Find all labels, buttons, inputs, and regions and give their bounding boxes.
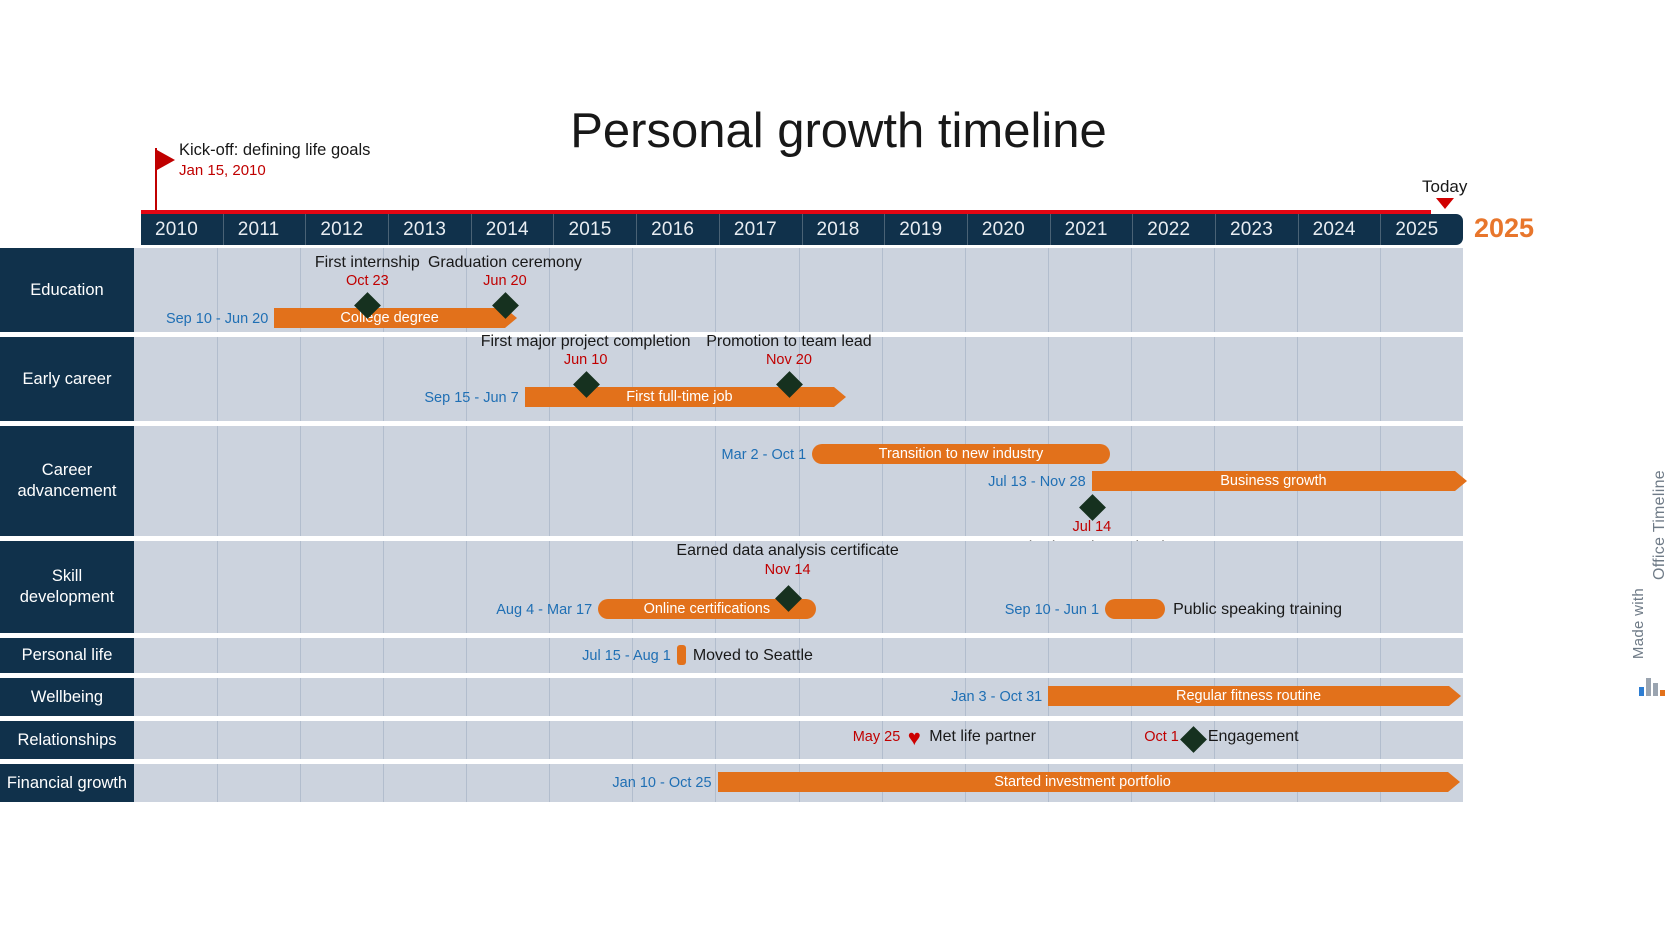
diamond-icon[interactable] <box>1079 494 1106 521</box>
bar-outside-label: Public speaking training <box>1173 600 1342 620</box>
today-label: Today <box>1422 178 1467 195</box>
kickoff-text-block: Kick-off: defining life goals Jan 15, 20… <box>179 140 370 181</box>
swimlane-label[interactable]: Relationships <box>0 721 134 759</box>
watermark-made-with: Made with <box>1630 588 1647 659</box>
timeline-bar[interactable]: College degree <box>274 308 505 328</box>
gridline <box>383 337 384 421</box>
gridline <box>799 426 800 536</box>
axis-year-2025[interactable]: 2025 <box>1380 214 1463 245</box>
gridline <box>217 638 218 673</box>
gridline <box>300 541 301 633</box>
swimlane-wellbeing: WellbeingRegular fitness routineJan 3 - … <box>0 678 1463 716</box>
gridline <box>300 426 301 536</box>
timeline-bar-label: Online certifications <box>644 601 771 617</box>
axis-year-2016[interactable]: 2016 <box>636 214 719 245</box>
bar-date-label: Jan 3 - Oct 31 <box>951 688 1042 706</box>
gridline <box>965 248 966 332</box>
gridline <box>300 678 301 716</box>
swimlane-track: Transition to new industryMar 2 - Oct 1B… <box>134 426 1463 536</box>
timeline-bar[interactable] <box>677 645 686 665</box>
gridline <box>799 678 800 716</box>
bar-date-label: Jul 15 - Aug 1 <box>582 647 671 665</box>
gridline <box>549 541 550 633</box>
gridline <box>1048 721 1049 759</box>
gridline <box>1131 638 1132 673</box>
axis-year-2014[interactable]: 2014 <box>471 214 554 245</box>
swimlane-early-career: Early careerFirst full-time jobSep 15 - … <box>0 337 1463 421</box>
gridline <box>799 248 800 332</box>
end-year-label: 2025 <box>1474 213 1534 244</box>
bar-date-label: Jul 13 - Nov 28 <box>988 473 1086 491</box>
timeline-bar[interactable]: Regular fitness routine <box>1048 686 1449 706</box>
gridline <box>715 721 716 759</box>
gridline <box>383 764 384 802</box>
today-marker[interactable]: Today <box>1422 178 1467 209</box>
office-timeline-logo-icon <box>1639 676 1665 696</box>
kickoff-label: Kick-off: defining life goals <box>179 140 370 161</box>
gridline <box>965 426 966 536</box>
gridline <box>217 337 218 421</box>
diamond-icon[interactable] <box>1180 726 1207 753</box>
timeline-bar-label: Business growth <box>1220 473 1326 489</box>
bar-date-label: Jan 10 - Oct 25 <box>612 774 711 792</box>
timeline-bar[interactable]: Transition to new industry <box>812 444 1110 464</box>
milestone-label: Promotion to team lead <box>706 332 871 352</box>
gridline <box>1048 337 1049 421</box>
gridline <box>882 638 883 673</box>
swimlane-label[interactable]: Education <box>0 248 134 332</box>
axis-year-2020[interactable]: 2020 <box>967 214 1050 245</box>
swimlane-label[interactable]: Early career <box>0 337 134 421</box>
today-marker-icon <box>1436 198 1454 209</box>
bar-date-label: Aug 4 - Mar 17 <box>496 601 592 619</box>
gridline <box>466 678 467 716</box>
swimlane-track: Online certificationsAug 4 - Mar 17Sep 1… <box>134 541 1463 633</box>
swimlane-relationships: Relationships♥May 25Met life partnerOct … <box>0 721 1463 759</box>
flag-icon <box>157 150 175 170</box>
heart-icon[interactable]: ♥ <box>904 728 924 748</box>
gridline <box>799 721 800 759</box>
gridline <box>300 337 301 421</box>
milestone-date: Jun 20 <box>483 272 527 290</box>
swimlane-label[interactable]: Wellbeing <box>0 678 134 716</box>
gridline <box>466 541 467 633</box>
axis-year-2018[interactable]: 2018 <box>802 214 885 245</box>
gridline <box>1131 541 1132 633</box>
milestone-date: May 25 <box>853 728 901 746</box>
axis-year-2021[interactable]: 2021 <box>1050 214 1133 245</box>
gridline <box>383 638 384 673</box>
timeline-bar-label: First full-time job <box>626 389 732 405</box>
gridline <box>383 721 384 759</box>
gridline <box>1048 541 1049 633</box>
gridline <box>715 678 716 716</box>
swimlane-financial-growth: Financial growthStarted investment portf… <box>0 764 1463 802</box>
gridline <box>1048 638 1049 673</box>
axis-year-2017[interactable]: 2017 <box>719 214 802 245</box>
watermark-product: Office Timeline <box>1651 470 1669 580</box>
timeline-bar-label: Regular fitness routine <box>1176 688 1321 704</box>
gridline <box>300 764 301 802</box>
gridline <box>965 638 966 673</box>
timeline-canvas: Personal growth timeline Kick-off: defin… <box>0 0 1677 941</box>
swimlane-skill-development: Skill developmentOnline certificationsAu… <box>0 541 1463 633</box>
gridline <box>632 678 633 716</box>
bar-date-label: Sep 15 - Jun 7 <box>424 389 518 407</box>
gridline <box>549 678 550 716</box>
milestone-date: Nov 14 <box>765 561 811 579</box>
gridline <box>1214 337 1215 421</box>
gridline <box>1131 721 1132 759</box>
gridline <box>217 764 218 802</box>
gridline <box>882 248 883 332</box>
swimlane-label[interactable]: Skill development <box>0 541 134 633</box>
bar-date-label: Sep 10 - Jun 20 <box>166 310 268 328</box>
gridline <box>549 721 550 759</box>
gridline <box>632 721 633 759</box>
swimlane-track: ♥May 25Met life partnerOct 1Engagement <box>134 721 1463 759</box>
timeline-bar[interactable] <box>1105 599 1165 619</box>
axis-year-2013[interactable]: 2013 <box>388 214 471 245</box>
kickoff-date: Jan 15, 2010 <box>179 161 370 181</box>
gridline <box>1297 337 1298 421</box>
gridline <box>1297 248 1298 332</box>
gridline <box>217 678 218 716</box>
axis-year-2010[interactable]: 2010 <box>141 214 223 245</box>
gridline <box>466 764 467 802</box>
axis-year-2024[interactable]: 2024 <box>1298 214 1381 245</box>
gridline <box>549 764 550 802</box>
axis-year-2015[interactable]: 2015 <box>553 214 636 245</box>
timeline-axis[interactable]: 2010201120122013201420152016201720182019… <box>141 214 1463 245</box>
watermark: Office Timeline Made with <box>1631 470 1671 800</box>
timeline-bar-label: Transition to new industry <box>879 446 1044 462</box>
axis-year-2023[interactable]: 2023 <box>1215 214 1298 245</box>
milestone-label: Met life partner <box>929 727 1036 747</box>
gridline <box>715 248 716 332</box>
gridline <box>383 541 384 633</box>
swimlane-track: College degreeSep 10 - Jun 20First inter… <box>134 248 1463 332</box>
timeline-bar[interactable]: Started investment portfolio <box>718 772 1448 792</box>
gridline <box>632 248 633 332</box>
gridline <box>1214 638 1215 673</box>
axis-year-2022[interactable]: 2022 <box>1132 214 1215 245</box>
milestone-label: Engagement <box>1208 727 1299 747</box>
swimlane-track: Jul 15 - Aug 1Moved to Seattle <box>134 638 1463 673</box>
gridline <box>632 541 633 633</box>
timeline-bar-label: College degree <box>340 310 438 326</box>
gridline <box>217 541 218 633</box>
gridline <box>300 638 301 673</box>
gridline <box>466 638 467 673</box>
gridline <box>549 426 550 536</box>
swimlane-label[interactable]: Financial growth <box>0 764 134 802</box>
gridline <box>383 678 384 716</box>
gridline <box>715 764 716 802</box>
gridline <box>1214 248 1215 332</box>
gridline <box>466 426 467 536</box>
timeline-bar-label: Started investment portfolio <box>994 774 1171 790</box>
gridline <box>1131 337 1132 421</box>
gridline <box>632 426 633 536</box>
milestone-date: Jun 10 <box>564 351 608 369</box>
axis-year-2019[interactable]: 2019 <box>884 214 967 245</box>
milestone-label: First internship <box>315 253 420 273</box>
axis-year-2012[interactable]: 2012 <box>305 214 388 245</box>
milestone-date: Oct 23 <box>346 272 389 290</box>
gridline <box>1380 638 1381 673</box>
gridline <box>300 721 301 759</box>
gridline <box>217 426 218 536</box>
bar-date-label: Sep 10 - Jun 1 <box>1005 601 1099 619</box>
gridline <box>965 337 966 421</box>
gridline <box>1297 638 1298 673</box>
axis-year-2011[interactable]: 2011 <box>223 214 306 245</box>
gridline <box>466 337 467 421</box>
gridline <box>549 638 550 673</box>
swimlane-track: First full-time jobSep 15 - Jun 7First m… <box>134 337 1463 421</box>
gridline <box>1380 337 1381 421</box>
gridline <box>882 678 883 716</box>
swimlane-track: Started investment portfolioJan 10 - Oct… <box>134 764 1463 802</box>
bar-date-label: Mar 2 - Oct 1 <box>722 446 807 464</box>
milestone-label: First major project completion <box>481 332 691 352</box>
gridline <box>1048 248 1049 332</box>
gridline <box>882 426 883 536</box>
timeline-bar[interactable]: Business growth <box>1092 471 1456 491</box>
swimlane-label[interactable]: Career advancement <box>0 426 134 536</box>
swimlane-personal-life: Personal lifeJul 15 - Aug 1Moved to Seat… <box>0 638 1463 673</box>
gridline <box>1131 248 1132 332</box>
gridline <box>466 721 467 759</box>
swimlane-container: EducationCollege degreeSep 10 - Jun 20Fi… <box>0 248 1463 807</box>
gridline <box>1380 721 1381 759</box>
gridline <box>383 426 384 536</box>
gridline <box>965 541 966 633</box>
milestone-date: Nov 20 <box>766 351 812 369</box>
gridline <box>217 721 218 759</box>
gridline <box>1380 248 1381 332</box>
milestone-label: Graduation ceremony <box>428 253 582 273</box>
swimlane-career-advancement: Career advancementTransition to new indu… <box>0 426 1463 536</box>
milestone-date: Oct 1 <box>1144 728 1179 746</box>
milestone-label: Earned data analysis certificate <box>676 541 898 561</box>
gridline <box>715 426 716 536</box>
swimlane-track: Regular fitness routineJan 3 - Oct 31 <box>134 678 1463 716</box>
gridline <box>1380 541 1381 633</box>
swimlane-label[interactable]: Personal life <box>0 638 134 673</box>
gridline <box>882 337 883 421</box>
swimlane-education: EducationCollege degreeSep 10 - Jun 20Fi… <box>0 248 1463 332</box>
bar-outside-label: Moved to Seattle <box>693 646 813 666</box>
milestone-date: Jul 14 <box>1073 518 1112 536</box>
